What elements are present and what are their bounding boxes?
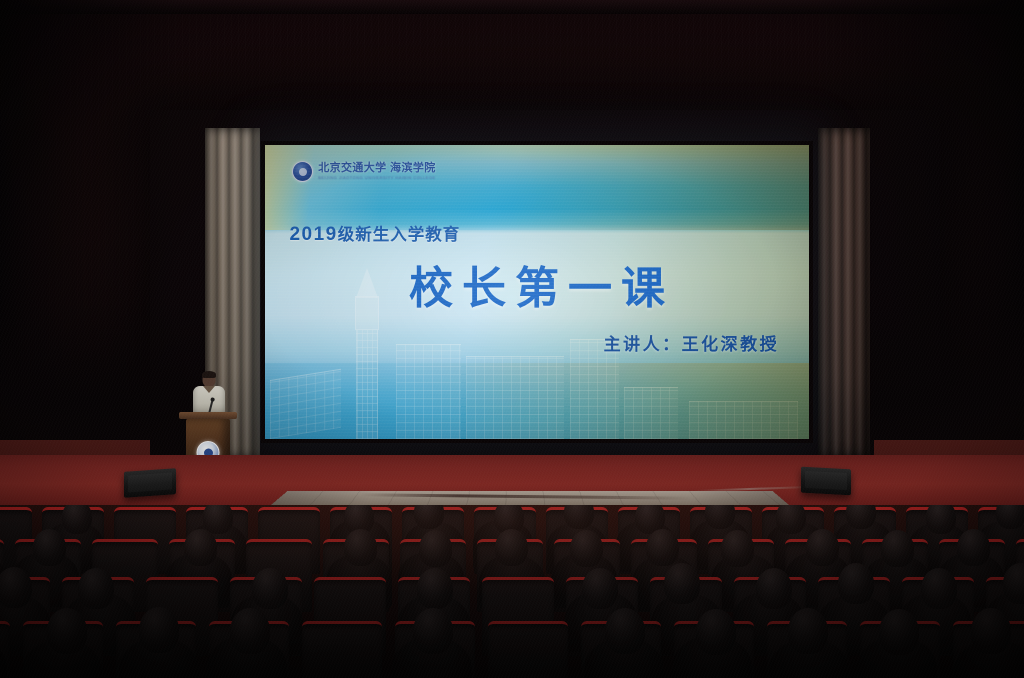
audience-member-head [996, 505, 1024, 529]
audience-member-head [413, 608, 453, 654]
audience-member-head [184, 529, 217, 566]
audience-member-head [957, 529, 990, 566]
stage-monitor-speaker-right [801, 467, 851, 496]
presenter-hair [202, 371, 216, 378]
audience-member-head [0, 567, 32, 608]
audience-member-head [252, 568, 288, 609]
stage-monitor-speaker-left [124, 468, 176, 498]
slide-kicker-year: 2019 [289, 224, 337, 245]
audience-member-head [605, 608, 645, 654]
projection-screen: 北京交通大学 海滨学院 BEIJING JIAOTONG UNIVERSITY … [265, 145, 809, 439]
audience-member-head [570, 530, 603, 567]
audience-member-head [646, 529, 679, 566]
audience-member-head [495, 529, 528, 566]
slide-logo-institution-sub: BEIJING JIAOTONG UNIVERSITY HAIBIN COLLE… [318, 175, 436, 180]
audience-member-head [971, 608, 1011, 654]
audience-member-head [756, 568, 792, 609]
slide-logo: 北京交通大学 海滨学院 BEIJING JIAOTONG UNIVERSITY … [292, 161, 436, 182]
audience-member-head [806, 529, 839, 566]
audience-member-head [881, 530, 914, 567]
slide-speaker-line: 主讲人：王化深教授 [604, 330, 780, 355]
auditorium-seat [488, 621, 568, 678]
audience-member-head [582, 568, 618, 609]
audience-member-head [33, 529, 66, 566]
audience-member-head [230, 608, 270, 654]
slide-logo-institution: 北京交通大学 海滨学院 [318, 163, 436, 175]
audience-member-head [62, 505, 92, 534]
podium-top [179, 412, 237, 419]
audience-member-head [696, 609, 736, 655]
slide-kicker-text: 级新生入学教育 [338, 226, 461, 244]
audience-member-head [78, 568, 114, 609]
stage-curtain-right [818, 128, 870, 458]
slide-title: 校长第一课 [265, 252, 809, 316]
audience-member-head [926, 505, 956, 534]
audience-member-head [417, 568, 453, 609]
slide-kicker: 2019级新生入学教育 [289, 221, 460, 246]
auditorium-photo: 北京交通大学 海滨学院 BEIJING JIAOTONG UNIVERSITY … [0, 0, 1024, 678]
audience-member-head [921, 568, 957, 609]
audience-member-head [879, 609, 919, 655]
audience-member-head [721, 530, 754, 567]
university-seal-icon [292, 161, 313, 182]
audience-member-head [344, 529, 377, 566]
auditorium-seat [302, 621, 382, 678]
audience-member-head [776, 505, 806, 534]
audience-member-head [47, 608, 87, 654]
audience-member-head [788, 608, 828, 654]
projection-screen-frame: 北京交通大学 海滨学院 BEIJING JIAOTONG UNIVERSITY … [261, 141, 813, 443]
audience-member-head [139, 607, 179, 653]
audience-member-head [838, 563, 874, 604]
audience-member-head [664, 563, 700, 604]
seated-audience [0, 505, 1024, 678]
audience-member-head [419, 530, 452, 567]
